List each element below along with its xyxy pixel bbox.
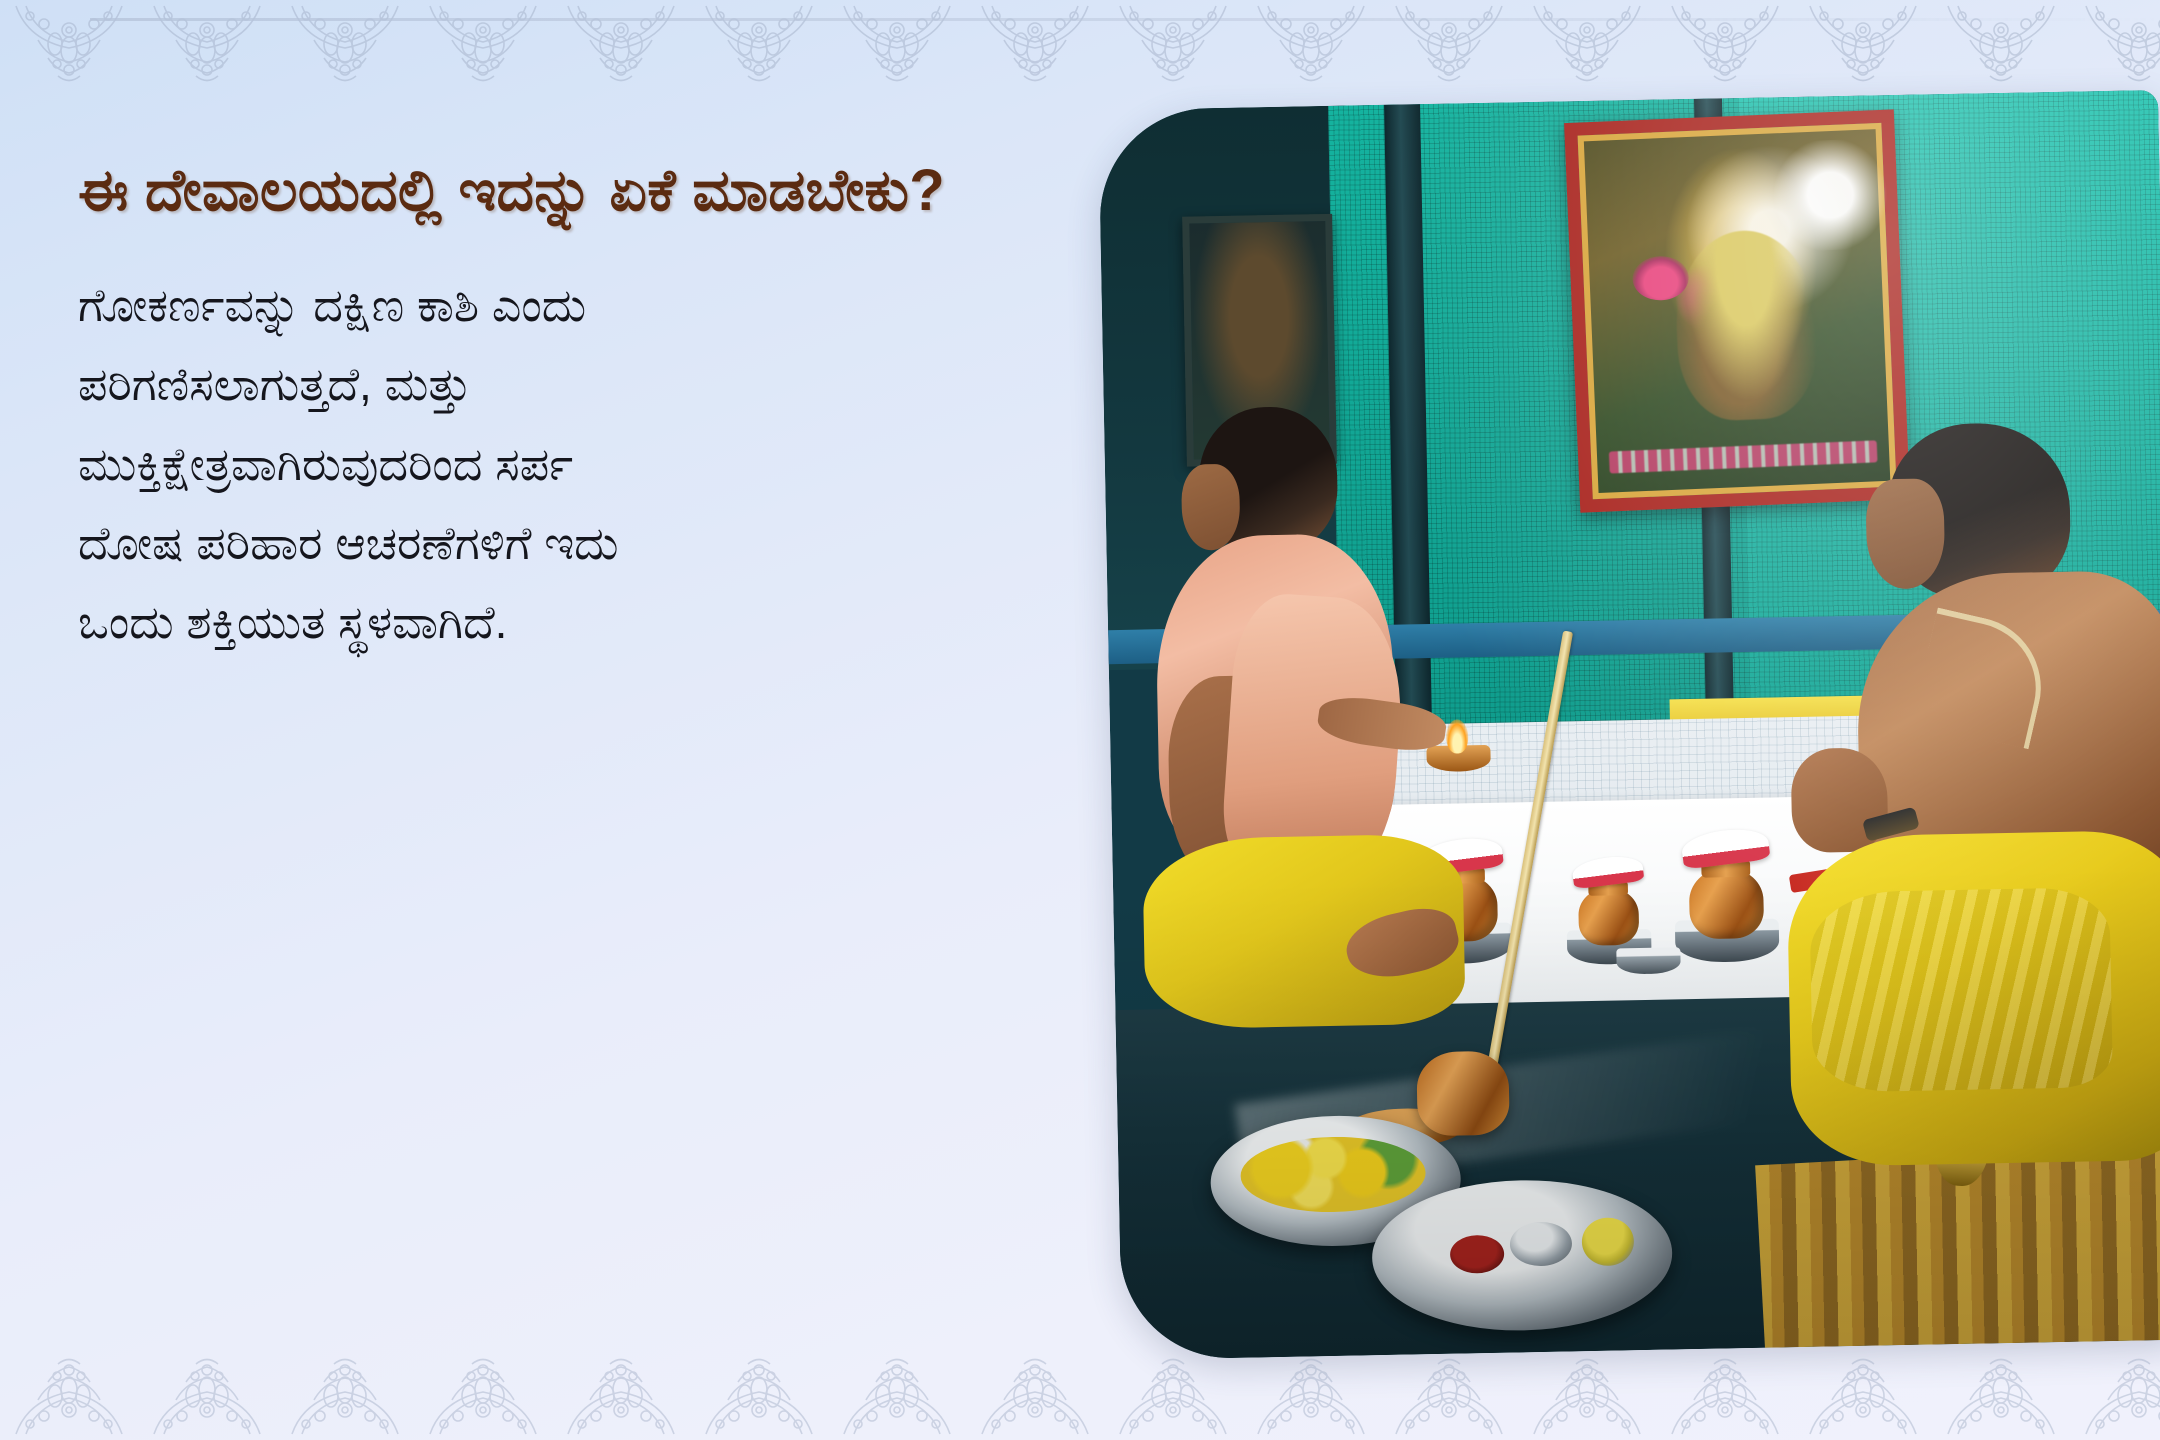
mandala-motif-icon [1104, 0, 1242, 92]
photo-devotee-figure [1126, 403, 1478, 1049]
mandala-motif-icon [276, 0, 414, 92]
mandala-motif-icon [1242, 0, 1380, 92]
body-paragraph: ಗೋಕರ್ಣವನ್ನು ದಕ್ಷಿಣ ಕಾಶಿ ಎಂದು ಪರಿಗಣಿಸಲಾಗು… [78, 266, 998, 662]
kalash-pot [1680, 834, 1774, 963]
body-line: ಒಂದು ಶಕ್ತಿಯುತ ಸ್ಥಳವಾಗಿದೆ. [78, 583, 998, 662]
mandala-motif-icon [690, 1348, 828, 1440]
mandala-motif-icon [1656, 1348, 1794, 1440]
mandala-motif-icon [1380, 0, 1518, 92]
bottom-mandala-motif-row [0, 1348, 2160, 1440]
bottom-decorative-border [0, 1348, 2160, 1440]
top-mandala-motif-row [0, 0, 2160, 92]
offering-bowl [1616, 947, 1680, 974]
body-line: ಮುಕ್ತಿಕ್ಷೇತ್ರವಾಗಿರುವುದರಿಂದ ಸರ್ಪ [78, 425, 998, 504]
mandala-motif-icon [414, 0, 552, 92]
mandala-motif-icon [1932, 0, 2070, 92]
mandala-motif-icon [1932, 1348, 2070, 1440]
mandala-motif-icon [2070, 0, 2160, 92]
marigold-flowers [1240, 1135, 1426, 1214]
mandala-motif-icon [966, 0, 1104, 92]
info-card-canvas: ಈ ದೇವಾಲಯದಲ್ಲಿ ಇದನ್ನು ಏಕೆ ಮಾಡಬೇಕು? ಗೋಕರ್ಣ… [0, 0, 2160, 1440]
mandala-motif-icon [0, 1348, 138, 1440]
mandala-motif-icon [1518, 0, 1656, 92]
mandala-motif-icon [828, 1348, 966, 1440]
mandala-motif-icon [138, 1348, 276, 1440]
kumkum-cup [1450, 1235, 1505, 1274]
mandala-motif-icon [1518, 1348, 1656, 1440]
body-line: ಪರಿಗಣಿಸಲಾಗುತ್ತದೆ, ಮತ್ತು [78, 345, 998, 424]
mandala-motif-icon [1794, 1348, 1932, 1440]
turmeric-cup [1581, 1217, 1634, 1266]
mandala-motif-icon [2070, 1348, 2160, 1440]
copper-pot [1416, 1051, 1510, 1137]
mandala-motif-icon [1380, 1348, 1518, 1440]
mandala-motif-icon [414, 1348, 552, 1440]
priest-dhoti-folds [1809, 887, 2113, 1093]
rice-cup [1510, 1221, 1573, 1266]
mandala-motif-icon [1104, 1348, 1242, 1440]
puja-photo [1098, 90, 2160, 1360]
photo-scene [1098, 90, 2160, 1360]
page-title: ಈ ದೇವಾಲಯದಲ್ಲಿ ಇದನ್ನು ಏಕೆ ಮಾಡಬೇಕು? [78, 150, 998, 232]
photo-priest-figure [1760, 420, 2160, 1188]
mandala-motif-icon [828, 0, 966, 92]
mandala-motif-icon [966, 1348, 1104, 1440]
kalash-body [1578, 888, 1639, 946]
mandala-motif-icon [1794, 0, 1932, 92]
kalash-cloth [1680, 825, 1770, 869]
mandala-motif-icon [1242, 1348, 1380, 1440]
mandala-motif-icon [276, 1348, 414, 1440]
top-hairline [90, 18, 2160, 21]
light-glare [1768, 137, 1893, 252]
mandala-motif-icon [552, 0, 690, 92]
top-decorative-border [0, 0, 2160, 92]
mandala-motif-icon [1656, 0, 1794, 92]
mandala-motif-icon [0, 0, 138, 92]
kalash-cloth [1571, 853, 1644, 889]
naga-figure [1673, 228, 1821, 423]
text-column: ಈ ದೇವಾಲಯದಲ್ಲಿ ಇದನ್ನು ಏಕೆ ಮಾಡಬೇಕು? ಗೋಕರ್ಣ… [78, 150, 998, 662]
body-line: ಗೋಕರ್ಣವನ್ನು ದಕ್ಷಿಣ ಕಾಶಿ ಎಂದು [78, 266, 998, 345]
mandala-motif-icon [690, 0, 828, 92]
body-line: ದೋಷ ಪರಿಹಾರ ಆಚರಣೆಗಳಿಗೆ ಇದು [78, 504, 998, 583]
kalash-body [1689, 868, 1765, 939]
mandala-motif-icon [138, 0, 276, 92]
mandala-motif-icon [552, 1348, 690, 1440]
